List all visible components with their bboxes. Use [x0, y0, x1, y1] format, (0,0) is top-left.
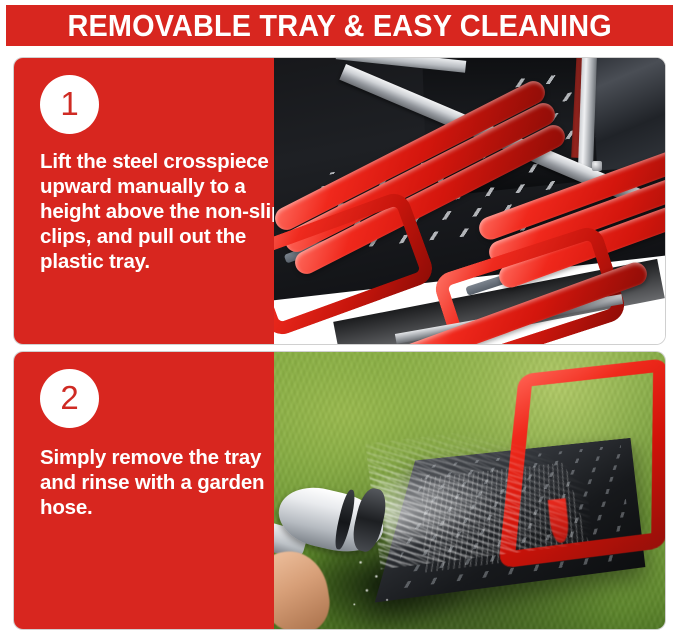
step-1-badge: 1: [40, 75, 99, 134]
grill-bolt: [592, 161, 602, 171]
page-title: REMOVABLE TRAY & EASY CLEANING: [67, 10, 611, 41]
step-1-description: Lift the steel crosspiece upward manuall…: [40, 149, 284, 274]
step-2-badge: 2: [40, 369, 99, 428]
step-panel-2: 2 Simply remove the tray and rinse with …: [14, 352, 665, 629]
step-2-description: Simply remove the tray and rinse with a …: [40, 445, 284, 520]
step-2-photo: [274, 352, 665, 629]
step-2-text-column: 2 Simply remove the tray and rinse with …: [14, 352, 274, 629]
grill-tray-photo: [274, 58, 665, 344]
hose-rinse-photo: [274, 352, 665, 629]
step-1-photo: [274, 58, 665, 344]
step-panel-1: 1 Lift the steel crosspiece upward manua…: [14, 58, 665, 344]
water-droplets: [348, 554, 411, 609]
step-1-number: 1: [60, 87, 78, 120]
header-banner: REMOVABLE TRAY & EASY CLEANING: [6, 5, 673, 46]
grill-right-panel: [591, 58, 665, 170]
step-1-text-column: 1 Lift the steel crosspiece upward manua…: [14, 58, 274, 344]
step-2-number: 2: [60, 381, 78, 414]
